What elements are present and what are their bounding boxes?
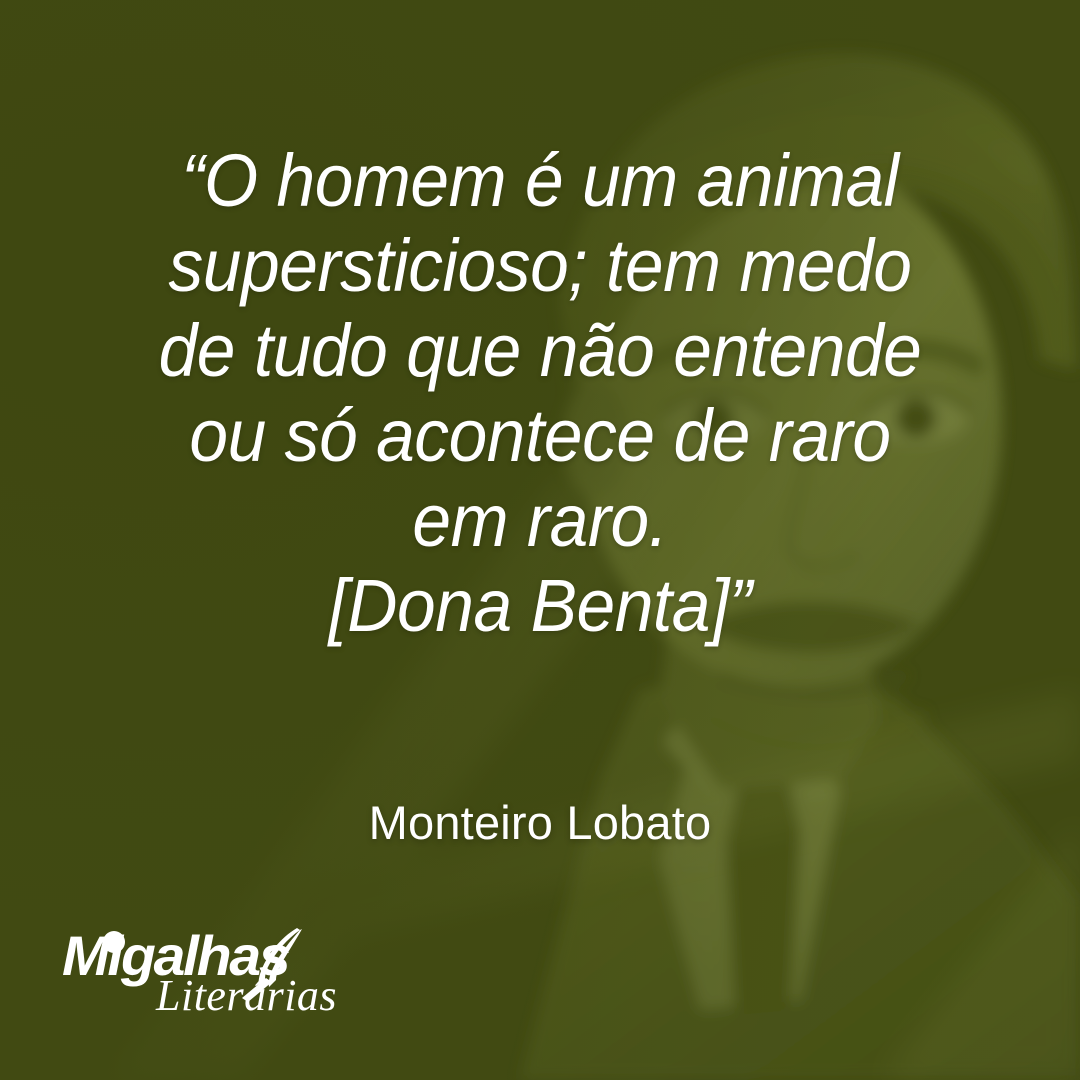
logo-subtitle: Literárias: [156, 974, 337, 1018]
logo-dot-icon: [103, 931, 125, 953]
migalhas-literarias-logo[interactable]: Migalhas Literárias: [62, 928, 322, 1020]
card-content: “O homem é um animal supersticioso; tem …: [0, 0, 1080, 1080]
quote-text: “O homem é um animal supersticioso; tem …: [0, 138, 1080, 648]
author-name: Monteiro Lobato: [0, 797, 1080, 849]
quote-line: de tudo que não entende: [78, 308, 1003, 393]
quote-line: “O homem é um animal: [78, 138, 1003, 223]
quote-line: ou só acontece de raro: [78, 393, 1003, 478]
quote-line: em raro.: [78, 478, 1003, 563]
quote-line: [Dona Benta]”: [78, 563, 1003, 648]
quote-line: supersticioso; tem medo: [78, 223, 1003, 308]
quote-card: “O homem é um animal supersticioso; tem …: [0, 0, 1080, 1080]
